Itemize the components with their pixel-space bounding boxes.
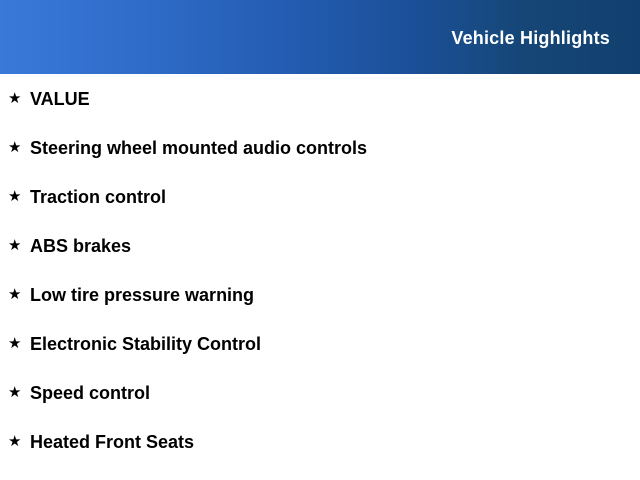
star-bullet-icon: ★ — [8, 91, 30, 106]
header-banner: Vehicle Highlights — [0, 0, 640, 74]
list-item-label: Low tire pressure warning — [30, 285, 254, 305]
list-item-label: ABS brakes — [30, 236, 131, 256]
star-bullet-icon: ★ — [8, 238, 30, 253]
list-item-label: Traction control — [30, 187, 166, 207]
list-item: ★ Heated Front Seats — [0, 417, 640, 466]
list-item-label: Steering wheel mounted audio controls — [30, 138, 367, 158]
list-item: ★ VALUE — [0, 74, 640, 123]
list-item-label: Electronic Stability Control — [30, 334, 261, 354]
list-item: ★ Speed control — [0, 368, 640, 417]
vehicle-highlights-page: Vehicle Highlights ★ VALUE ★ Steering wh… — [0, 0, 640, 480]
star-bullet-icon: ★ — [8, 336, 30, 351]
list-item-label: Heated Front Seats — [30, 432, 194, 452]
star-bullet-icon: ★ — [8, 385, 30, 400]
list-item: ★ Low tire pressure warning — [0, 270, 640, 319]
list-item: ★ Traction control — [0, 172, 640, 221]
list-item-label: Speed control — [30, 383, 150, 403]
page-title: Vehicle Highlights — [451, 28, 610, 48]
list-item-label: VALUE — [30, 89, 90, 109]
highlights-list: ★ VALUE ★ Steering wheel mounted audio c… — [0, 74, 640, 466]
list-item: ★ Electronic Stability Control — [0, 319, 640, 368]
star-bullet-icon: ★ — [8, 434, 30, 449]
star-bullet-icon: ★ — [8, 140, 30, 155]
star-bullet-icon: ★ — [8, 189, 30, 204]
list-item: ★ ABS brakes — [0, 221, 640, 270]
list-item: ★ Steering wheel mounted audio controls — [0, 123, 640, 172]
star-bullet-icon: ★ — [8, 287, 30, 302]
